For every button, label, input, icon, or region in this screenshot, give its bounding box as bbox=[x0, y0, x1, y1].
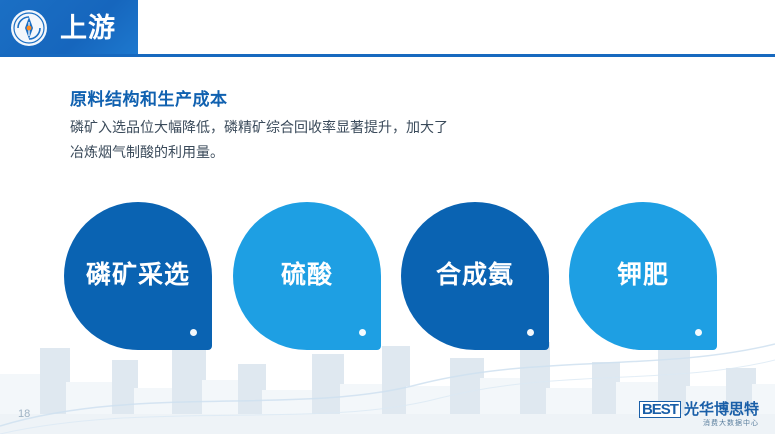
brand-subtitle: 消费大数据中心 bbox=[703, 418, 759, 428]
brand-mark-text: BEST bbox=[639, 401, 681, 418]
teardrop-group: 磷矿采选 硫酸 合成氨 钾肥 bbox=[0, 196, 775, 366]
brand-name-text: 光华博思特 bbox=[684, 402, 759, 417]
teardrop-label: 磷矿采选 bbox=[86, 255, 190, 291]
slide: 上游 原料结构和生产成本 磷矿入选品位大幅降低，磷精矿综合回收率显著提升，加大了… bbox=[0, 0, 775, 434]
teardrop-dot-icon bbox=[190, 329, 197, 336]
teardrop-item-2[interactable]: 硫酸 bbox=[233, 202, 381, 350]
teardrop-item-3[interactable]: 合成氨 bbox=[401, 202, 549, 350]
brand-logo: BEST 光华博思特 bbox=[639, 401, 759, 418]
teardrop-dot-icon bbox=[359, 329, 366, 336]
page-title: 上游 bbox=[60, 11, 116, 45]
section-title: 原料结构和生产成本 bbox=[70, 85, 228, 110]
page-number: 18 bbox=[18, 408, 30, 420]
teardrop-dot-icon bbox=[527, 329, 534, 336]
teardrop-label: 合成氨 bbox=[436, 255, 514, 291]
teardrop-dot-icon bbox=[695, 329, 702, 336]
header-underline bbox=[0, 54, 775, 57]
slide-header: 上游 bbox=[0, 0, 775, 57]
section-body-text: 磷矿入选品位大幅降低，磷精矿综合回收率显著提升，加大了冶炼烟气制酸的利用量。 bbox=[70, 115, 460, 165]
fountain-pen-logo-icon bbox=[8, 8, 50, 50]
teardrop-label: 钾肥 bbox=[617, 255, 669, 291]
teardrop-item-1[interactable]: 磷矿采选 bbox=[64, 202, 212, 350]
teardrop-item-4[interactable]: 钾肥 bbox=[569, 202, 717, 350]
teardrop-label: 硫酸 bbox=[281, 255, 333, 291]
